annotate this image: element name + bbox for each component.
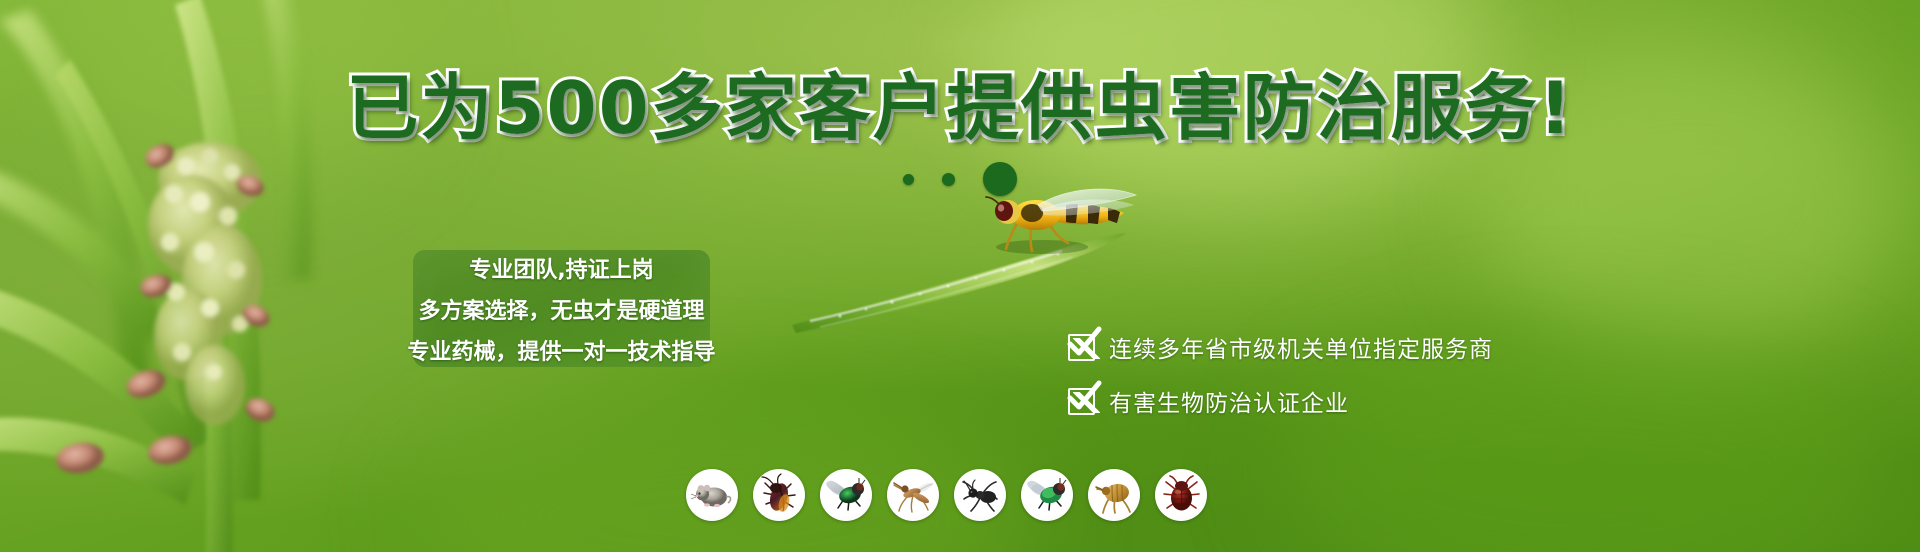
hoverfly-on-leaf-photo xyxy=(780,185,1200,335)
pest-icon-blowfly[interactable] xyxy=(1021,469,1073,521)
pest-control-hero-banner: 已为500多家客户提供虫害防治服务! xyxy=(0,0,1920,552)
page-title: 已为500多家客户提供虫害防治服务! xyxy=(0,72,1920,144)
pest-icon-mouse[interactable] xyxy=(686,469,738,521)
checkbox-checked-icon xyxy=(1068,388,1095,415)
selling-points-panel: 专业团队,持证上岗 多方案选择，无虫才是硬道理 专业药械，提供一对一技术指导 xyxy=(413,250,710,367)
pest-icon-ant[interactable] xyxy=(954,469,1006,521)
checkbox-checked-icon xyxy=(1068,334,1095,361)
selling-point-line-2: 多方案选择，无虫才是硬道理 xyxy=(418,293,704,325)
credential-text: 连续多年省市级机关单位指定服务商 xyxy=(1109,330,1493,364)
credential-bullet-list: 连续多年省市级机关单位指定服务商 有害生物防治认证企业 xyxy=(1068,330,1493,418)
pest-icon-fly[interactable] xyxy=(820,469,872,521)
pest-icon-mosquito[interactable] xyxy=(887,469,939,521)
pest-type-icon-row xyxy=(686,469,1207,521)
dot-small-icon xyxy=(903,174,914,185)
list-item: 有害生物防治认证企业 xyxy=(1068,384,1493,418)
credential-text: 有害生物防治认证企业 xyxy=(1109,384,1349,418)
pest-icon-cockroach[interactable] xyxy=(753,469,805,521)
list-item: 连续多年省市级机关单位指定服务商 xyxy=(1068,330,1493,364)
selling-point-line-1: 专业团队,持证上岗 xyxy=(469,252,653,284)
page-title-text: 已为500多家客户提供虫害防治服务! xyxy=(346,66,1573,150)
pest-icon-flea[interactable] xyxy=(1088,469,1140,521)
selling-point-line-3: 专业药械，提供一对一技术指导 xyxy=(408,334,716,366)
dot-medium-icon xyxy=(942,173,955,186)
pest-icon-bedbug[interactable] xyxy=(1155,469,1207,521)
